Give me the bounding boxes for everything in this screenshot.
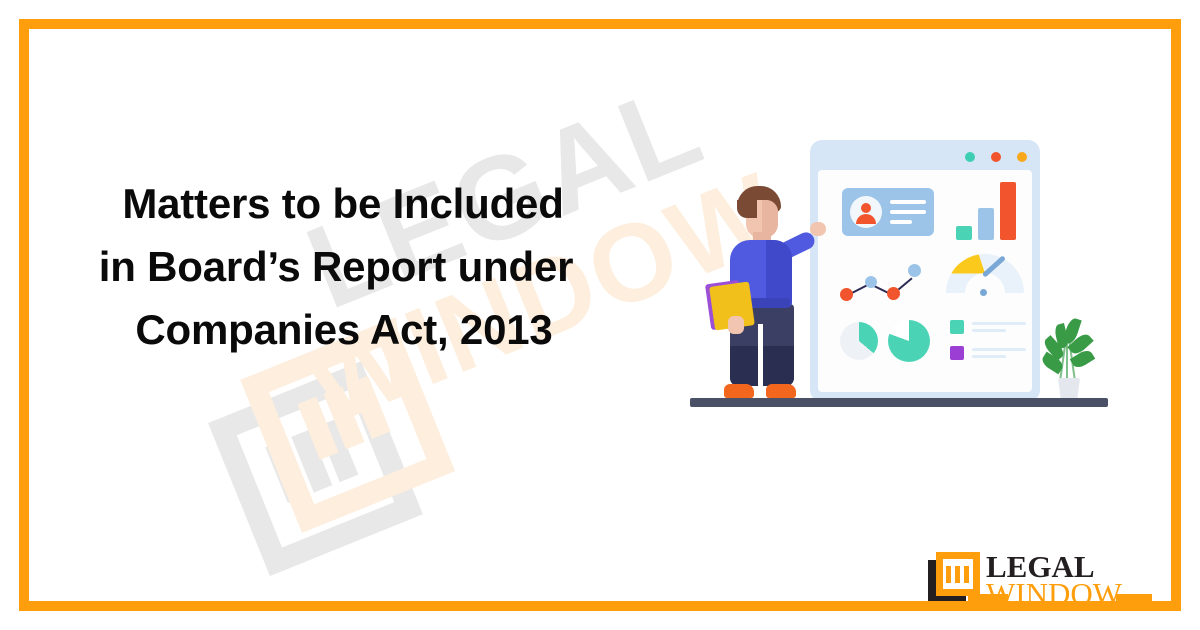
- bar-chart-graphic: [956, 180, 1018, 240]
- person-shoe-left: [724, 384, 754, 398]
- person-hand: [810, 222, 826, 236]
- window-dot-orange-icon: [1017, 152, 1027, 162]
- brand-rule-right: [1116, 594, 1152, 601]
- line-node-2: [865, 276, 877, 288]
- avatar-icon: [850, 196, 882, 228]
- pie-chart-left-graphic: [840, 322, 878, 360]
- legend-item-1: [950, 320, 1026, 338]
- gauge-chart-graphic: [946, 254, 1024, 302]
- line-node-4: [908, 264, 921, 277]
- page-title-line-2: in Board’s Report under: [56, 235, 616, 298]
- legend-graphic: [950, 320, 1026, 366]
- person-graphic: [722, 186, 806, 402]
- gauge-hub: [977, 286, 990, 299]
- bar-2: [978, 208, 994, 240]
- brand-wordmark: LEGAL WINDOW: [986, 550, 1121, 608]
- poster-canvas: LEGAL WINDOW Matters to be Included in B…: [0, 0, 1200, 630]
- brand-rule-left: [968, 594, 1008, 601]
- page-title: Matters to be Included in Board’s Report…: [56, 172, 616, 361]
- profile-card-graphic: [842, 188, 934, 236]
- analytics-dashboard-illustration: [690, 120, 1110, 440]
- page-title-line-1: Matters to be Included: [70, 172, 616, 235]
- bar-3: [1000, 182, 1016, 240]
- page-title-line-3: Companies Act, 2013: [72, 298, 616, 361]
- person-shoe-right: [766, 384, 796, 398]
- window-dot-green-icon: [965, 152, 975, 162]
- legend-item-2: [950, 346, 1026, 364]
- person-hand-2: [728, 316, 744, 334]
- pie-chart-right-graphic: [888, 320, 930, 362]
- line-node-1: [840, 288, 853, 301]
- line-chart-graphic: [840, 264, 920, 308]
- legend-swatch-teal: [950, 320, 964, 334]
- floor-line: [690, 398, 1108, 407]
- brand-logo[interactable]: LEGAL WINDOW: [928, 550, 1118, 608]
- bar-1: [956, 226, 972, 240]
- window-dot-red-icon: [991, 152, 1001, 162]
- browser-window-graphic: [810, 140, 1040, 402]
- browser-screen: [818, 170, 1032, 392]
- legend-swatch-purple: [950, 346, 964, 360]
- line-node-3: [887, 287, 900, 300]
- window-controls: [965, 152, 1027, 162]
- watermark-logo-mark-gray: [208, 361, 423, 576]
- potted-plant-graphic: [1040, 316, 1094, 402]
